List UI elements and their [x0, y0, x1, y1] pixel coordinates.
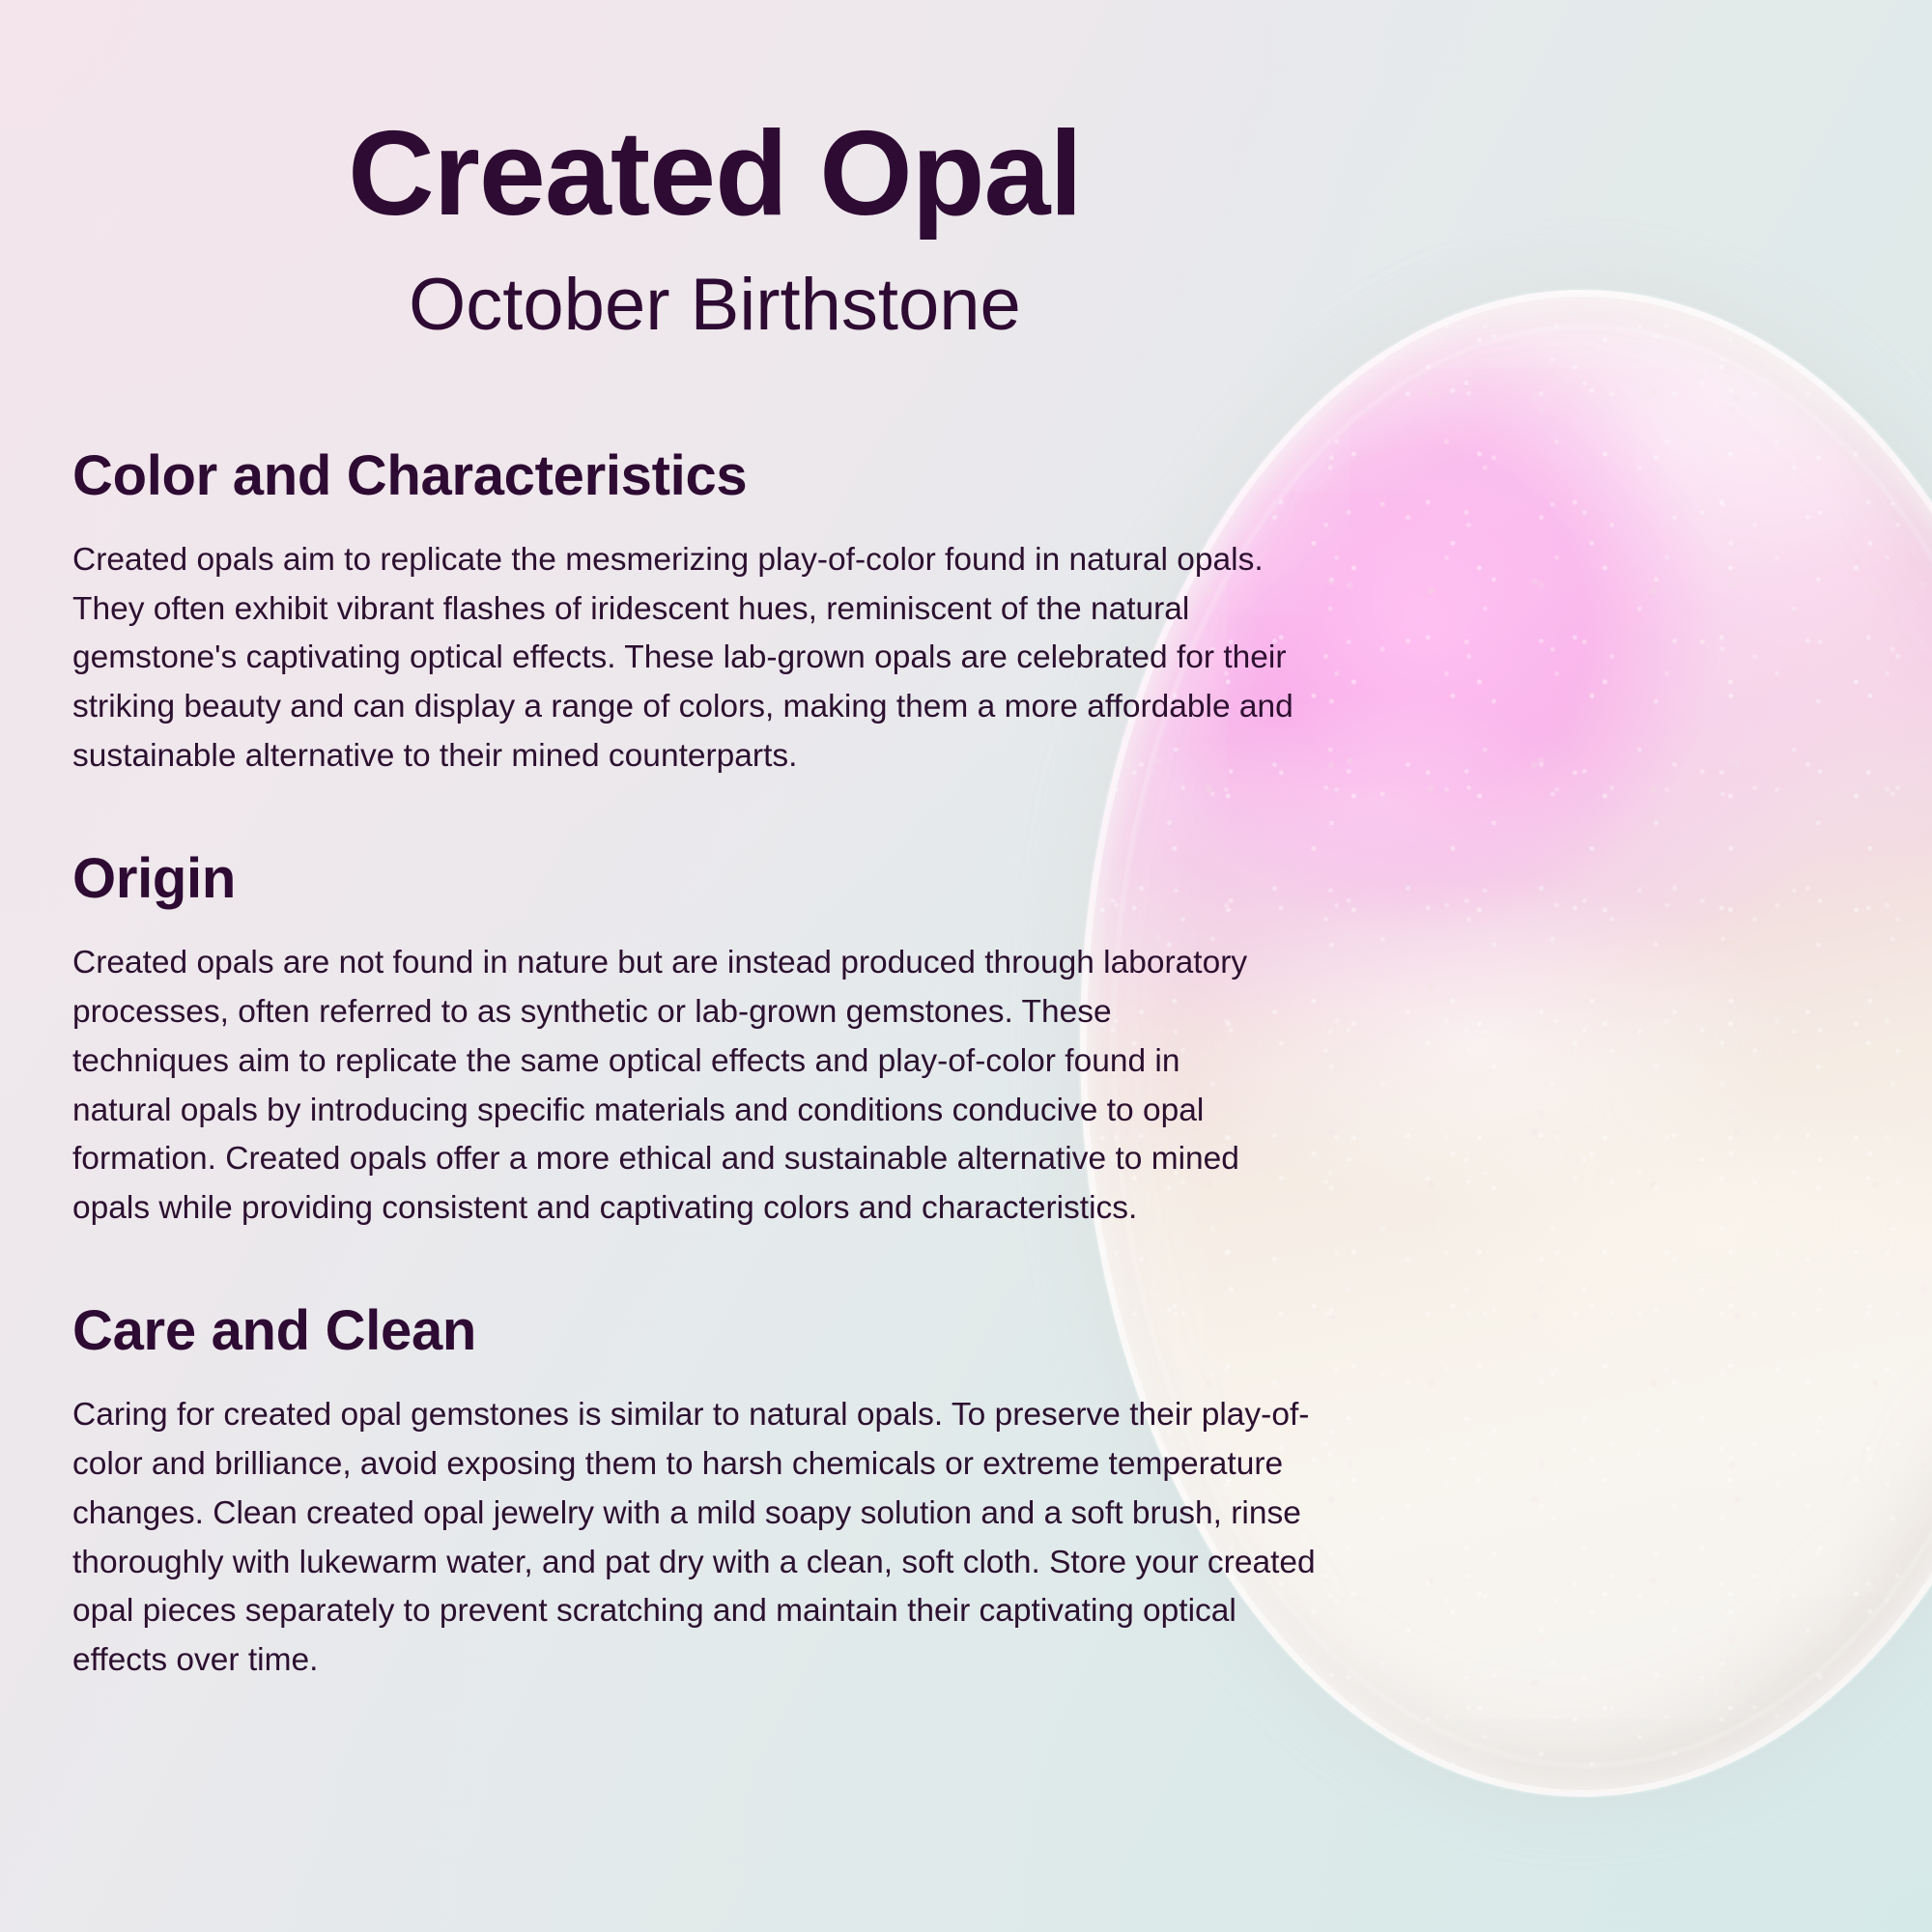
section-heading-color-and-characteristics: Color and Characteristics: [72, 446, 1338, 507]
content-layer: Created Opal October Birthstone Color an…: [0, 0, 1932, 1932]
page-title: Created Opal: [0, 114, 1430, 234]
section-care-and-clean: Care and Clean Caring for created opal g…: [72, 1301, 1338, 1686]
section-heading-origin: Origin: [72, 849, 1338, 910]
spacer-origin: [72, 816, 1338, 849]
spacer-care: [72, 1268, 1338, 1301]
section-body-color-and-characteristics: Created opals aim to replicate the mesme…: [72, 536, 1309, 782]
section-color-and-characteristics: Color and Characteristics Created opals …: [72, 446, 1338, 781]
page-subtitle: October Birthstone: [0, 269, 1430, 342]
section-body-care-and-clean: Caring for created opal gemstones is sim…: [72, 1391, 1328, 1686]
section-heading-care-and-clean: Care and Clean: [72, 1301, 1338, 1362]
section-origin: Origin Created opals are not found in na…: [72, 849, 1338, 1234]
section-body-origin: Created opals are not found in nature bu…: [72, 939, 1261, 1234]
sections-container: Color and Characteristics Created opals …: [72, 446, 1338, 1686]
created-opal-infographic: Created Opal October Birthstone Color an…: [0, 0, 1932, 1932]
